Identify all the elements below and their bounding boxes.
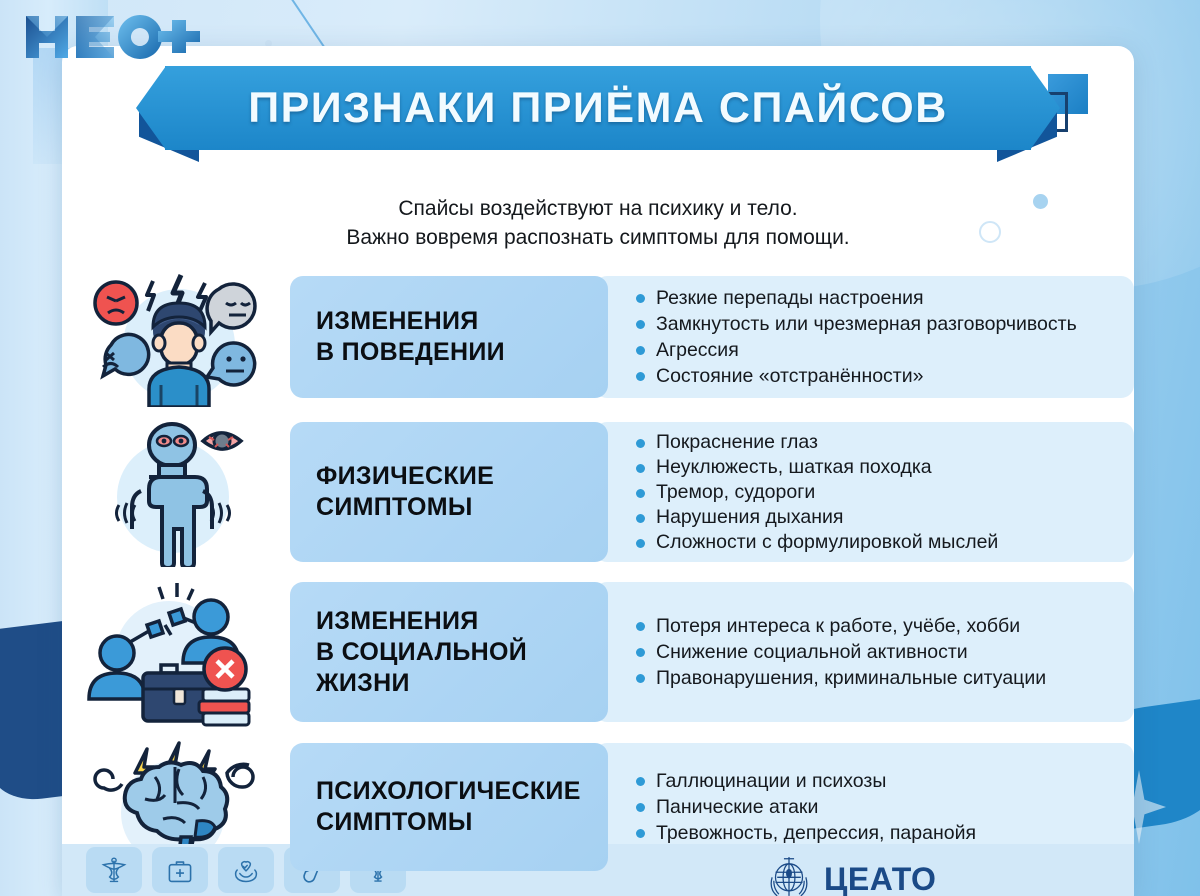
bullet-text: Нарушения дыхания	[656, 505, 843, 530]
page-title: ПРИЗНАКИ ПРИЁМА СПАЙСОВ	[248, 84, 948, 133]
section-title-line: СИМПТОМЫ	[316, 493, 473, 521]
bullet-text: Состояние «отстранённости»	[656, 363, 923, 389]
bullet-text: Неуклюжесть, шаткая походка	[656, 455, 932, 480]
bullet-dot-icon	[636, 294, 645, 303]
section-title-line: ЖИЗНИ	[316, 669, 410, 697]
bullet-dot-icon	[636, 439, 645, 448]
trembling-body-red-eye-icon	[62, 417, 290, 567]
section-bullets-social: Потеря интереса к работе, учёбе, хобби С…	[594, 582, 1134, 722]
caduceus-icon	[86, 847, 142, 893]
section-bullets-physical: Покраснение глаз Неуклюжесть, шаткая пох…	[594, 422, 1134, 562]
bullet-text: Галлюцинации и психозы	[656, 768, 886, 794]
bullet-text: Тремор, судороги	[656, 480, 815, 505]
section-row-physical: ФИЗИЧЕСКИЕ СИМПТОМЫ Покраснение глаз Неу…	[62, 412, 1134, 572]
section-title-line: ФИЗИЧЕСКИЕ	[316, 462, 494, 490]
bullet-dot-icon	[636, 803, 645, 812]
section-title-behavior: ИЗМЕНЕНИЯ В ПОВЕДЕНИИ	[290, 276, 608, 398]
bullet-dot-icon	[636, 320, 645, 329]
subtitle-line-1: Спайсы воздействуют на психику и тело.	[62, 194, 1134, 223]
section-row-behavior: ИЗМЕНЕНИЯ В ПОВЕДЕНИИ Резкие перепады на…	[62, 262, 1134, 412]
ribbon-body: ПРИЗНАКИ ПРИЁМА СПАЙСОВ	[165, 66, 1031, 150]
bullet-dot-icon	[636, 674, 645, 683]
list-item: Потеря интереса к работе, учёбе, хобби	[636, 613, 1116, 639]
list-item: Сложности с формулировкой мыслей	[636, 530, 1116, 555]
subtitle-line-2: Важно вовремя распознать симптомы для по…	[62, 223, 1134, 252]
list-item: Правонарушения, криминальные ситуации	[636, 665, 1116, 691]
bullet-dot-icon	[636, 372, 645, 381]
infographic-card: ПРИЗНАКИ ПРИЁМА СПАЙСОВ Спайсы воздейств…	[62, 46, 1134, 896]
bullet-dot-icon	[636, 514, 645, 523]
organization-name: ЦЕАТО	[824, 861, 936, 896]
bullet-dot-icon	[636, 622, 645, 631]
bullet-dot-icon	[636, 829, 645, 838]
bullet-dot-icon	[636, 489, 645, 498]
who-emblem-icon	[762, 852, 816, 896]
bullet-text: Панические атаки	[656, 794, 818, 820]
list-item: Нарушения дыхания	[636, 505, 1116, 530]
section-row-social: ИЗМЕНЕНИЯ В СОЦИАЛЬНОЙ ЖИЗНИ Потеря инте…	[62, 572, 1134, 732]
bullet-dot-icon	[636, 346, 645, 355]
section-panels: ИЗМЕНЕНИЯ В ПОВЕДЕНИИ Резкие перепады на…	[290, 276, 1134, 398]
bullet-text: Правонарушения, криминальные ситуации	[656, 665, 1046, 691]
section-title-line: СИМПТОМЫ	[316, 808, 473, 836]
bullet-text: Сложности с формулировкой мыслей	[656, 530, 998, 555]
bullet-dot-icon	[636, 777, 645, 786]
list-item: Панические атаки	[636, 794, 1116, 820]
list-item: Состояние «отстранённости»	[636, 363, 1116, 389]
section-title-social: ИЗМЕНЕНИЯ В СОЦИАЛЬНОЙ ЖИЗНИ	[290, 582, 608, 722]
bullet-dot-icon	[636, 539, 645, 548]
list-item: Покраснение глаз	[636, 430, 1116, 455]
section-panels: ИЗМЕНЕНИЯ В СОЦИАЛЬНОЙ ЖИЗНИ Потеря инте…	[290, 582, 1134, 722]
first-aid-kit-icon	[152, 847, 208, 893]
list-item: Галлюцинации и психозы	[636, 768, 1116, 794]
angry-person-emotions-icon	[62, 267, 290, 407]
list-item: Тревожность, депрессия, паранойя	[636, 820, 1116, 846]
section-panels: ФИЗИЧЕСКИЕ СИМПТОМЫ Покраснение глаз Неу…	[290, 422, 1134, 562]
list-item: Снижение социальной активности	[636, 639, 1116, 665]
bullet-text: Резкие перепады настроения	[656, 285, 924, 311]
list-item: Резкие перепады настроения	[636, 285, 1116, 311]
organization-logo: ЦЕАТО	[762, 852, 936, 896]
bullet-text: Потеря интереса к работе, учёбе, хобби	[656, 613, 1020, 639]
heart-in-hands-icon	[218, 847, 274, 893]
bullet-text: Покраснение глаз	[656, 430, 818, 455]
title-ribbon: ПРИЗНАКИ ПРИЁМА СПАЙСОВ	[139, 66, 1057, 166]
bullet-text: Агрессия	[656, 337, 739, 363]
section-title-physical: ФИЗИЧЕСКИЕ СИМПТОМЫ	[290, 422, 608, 562]
section-bullets-behavior: Резкие перепады настроения Замкнутость и…	[594, 276, 1134, 398]
sections-list: ИЗМЕНЕНИЯ В ПОВЕДЕНИИ Резкие перепады на…	[62, 262, 1134, 882]
section-title-line: ИЗМЕНЕНИЯ	[316, 307, 479, 335]
bullet-dot-icon	[636, 464, 645, 473]
bullet-dot-icon	[636, 648, 645, 657]
section-title-line: ПСИХОЛОГИЧЕСКИЕ	[316, 777, 581, 805]
bullet-text: Замкнутость или чрезмерная разговорчивос…	[656, 311, 1077, 337]
section-title-line: В СОЦИАЛЬНОЙ	[316, 638, 527, 666]
bullet-text: Снижение социальной активности	[656, 639, 968, 665]
section-title-line: ИЗМЕНЕНИЯ	[316, 607, 479, 635]
bullet-text: Тревожность, депрессия, паранойя	[656, 820, 976, 846]
neo-plus-logo	[18, 8, 208, 66]
list-item: Агрессия	[636, 337, 1116, 363]
broken-social-link-briefcase-icon	[62, 577, 290, 727]
list-item: Замкнутость или чрезмерная разговорчивос…	[636, 311, 1116, 337]
list-item: Неуклюжесть, шаткая походка	[636, 455, 1116, 480]
list-item: Тремор, судороги	[636, 480, 1116, 505]
section-title-line: В ПОВЕДЕНИИ	[316, 338, 505, 366]
subtitle: Спайсы воздействуют на психику и тело. В…	[62, 194, 1134, 252]
section-title-psychological: ПСИХОЛОГИЧЕСКИЕ СИМПТОМЫ	[290, 743, 608, 871]
